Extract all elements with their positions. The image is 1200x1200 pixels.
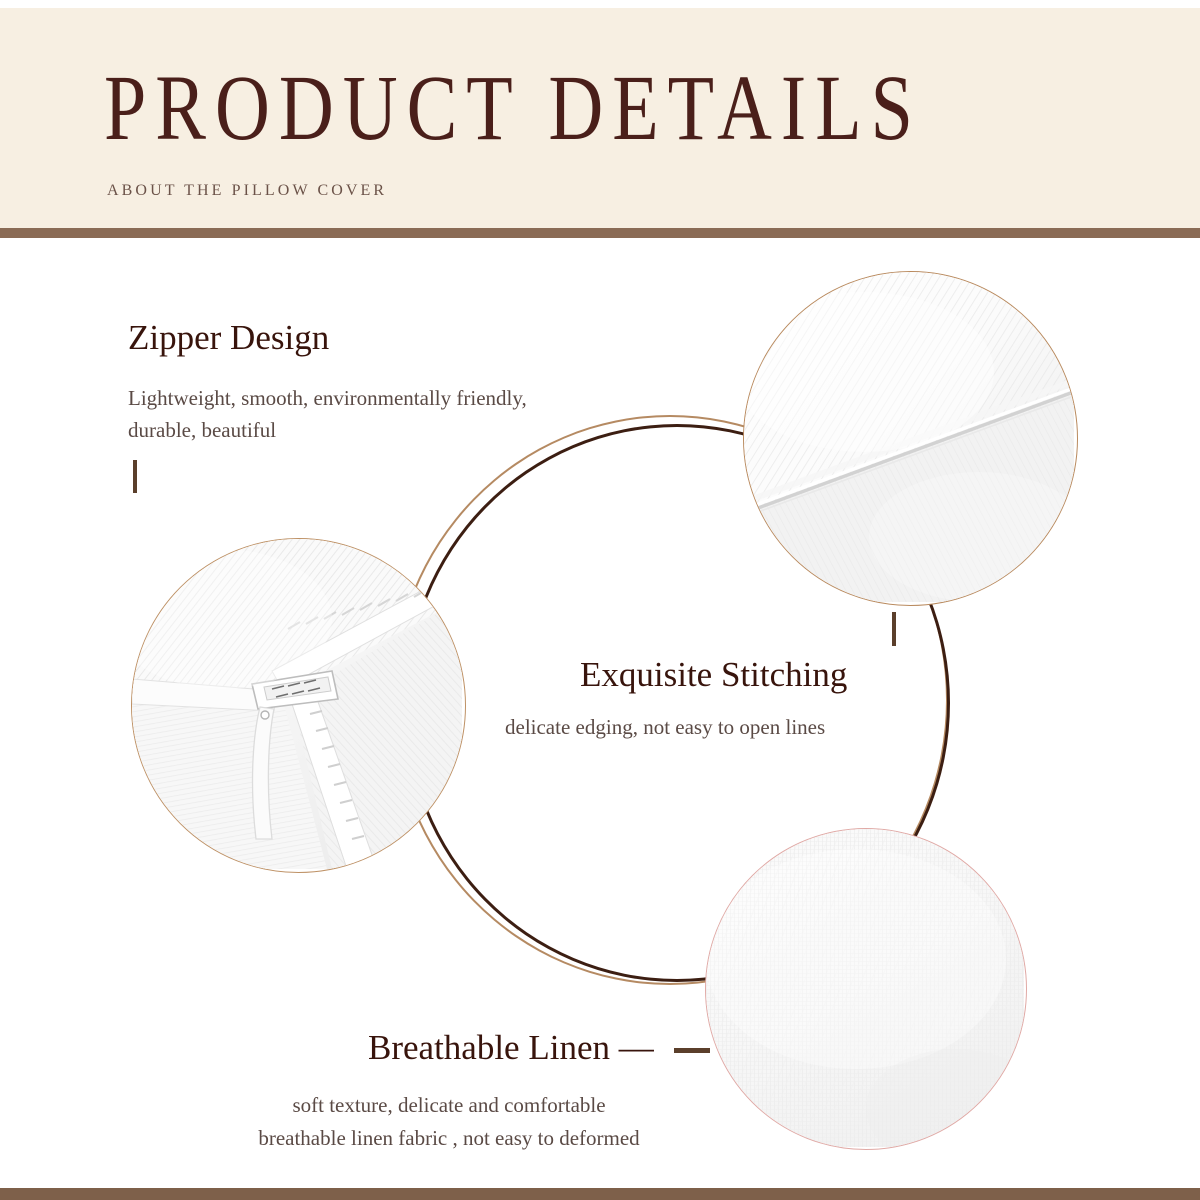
stitching-fabric-image [744, 272, 1074, 602]
page-title: PRODUCT DETAILS [104, 62, 922, 155]
feature-title-stitching: Exquisite Stitching [580, 655, 847, 695]
feature-body-linen-line2: breathable linen fabric , not easy to de… [224, 1122, 674, 1155]
header-divider [0, 228, 1200, 238]
feature-body-stitching: delicate edging, not easy to open lines [505, 715, 825, 740]
footer-bar [0, 1188, 1200, 1200]
linen-photo [705, 828, 1027, 1150]
feature-title-linen: Breathable Linen — [368, 1028, 654, 1068]
zipper-fabric-image [132, 539, 462, 869]
zipper-photo [131, 538, 466, 873]
page-subtitle: ABOUT THE PILLOW COVER [107, 182, 387, 200]
tick-mark-stitching [892, 612, 896, 646]
feature-body-linen-line1: soft texture, delicate and comfortable [224, 1089, 674, 1122]
feature-body-zipper: Lightweight, smooth, environmentally fri… [128, 382, 558, 446]
product-details-infographic: PRODUCT DETAILS ABOUT THE PILLOW COVER [0, 0, 1200, 1200]
linen-fabric-image [706, 829, 1024, 1147]
feature-title-zipper: Zipper Design [128, 318, 329, 358]
stitching-photo [743, 271, 1078, 606]
tick-mark-zipper [133, 460, 137, 493]
dash-connector-linen [674, 1048, 710, 1053]
feature-body-linen: soft texture, delicate and comfortable b… [224, 1089, 674, 1155]
